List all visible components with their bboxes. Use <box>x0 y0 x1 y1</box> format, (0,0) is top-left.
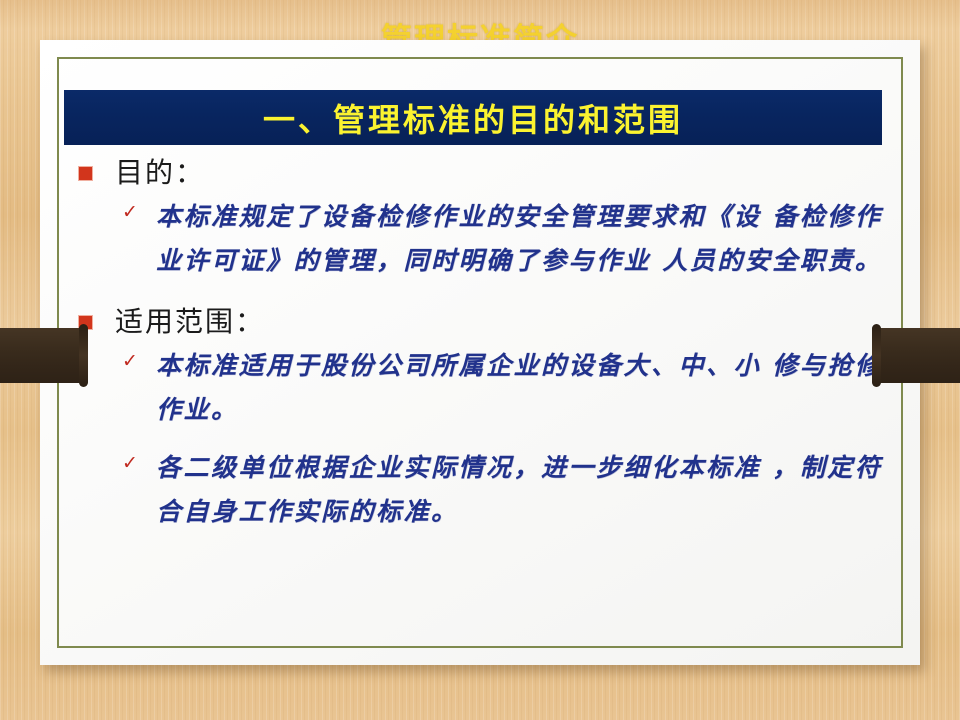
clamp-strap-left-cap <box>79 324 88 387</box>
section-scope-item-1: ✓ 本标准适用于股份公司所属企业的设备大、中、小 修与抢修作业。 <box>64 344 896 432</box>
text-line: 各二级单位根据企业实际情况，进一步细化本标准 <box>156 453 761 482</box>
section-scope-label: 适用范围： <box>115 307 265 338</box>
clamp-strap-right <box>874 328 960 383</box>
text-line: 人员的安全职责。 <box>662 246 882 275</box>
section-scope-header: 适用范围： <box>64 307 896 338</box>
clamp-strap-right-cap <box>872 324 881 387</box>
clamp-strap-left <box>0 328 86 383</box>
slide-body: 目的： ✓ 本标准规定了设备检修作业的安全管理要求和《设 备检修作业许可证》的管… <box>64 158 896 540</box>
section-purpose: 目的： ✓ 本标准规定了设备检修作业的安全管理要求和《设 备检修作业许可证》的管… <box>64 158 896 283</box>
section-purpose-item-1: ✓ 本标准规定了设备检修作业的安全管理要求和《设 备检修作业许可证》的管理，同时… <box>64 195 896 283</box>
slide-stage: 管理标准简介 一、管理标准的目的和范围 目的： ✓ 本标准规定了设备检修作业的安… <box>0 0 960 720</box>
item-spacer <box>64 436 896 446</box>
section-heading-bar: 一、管理标准的目的和范围 <box>64 90 882 145</box>
section-scope-item-1-text: 本标准适用于股份公司所属企业的设备大、中、小 修与抢修作业。 <box>156 344 896 432</box>
section-purpose-item-1-text: 本标准规定了设备检修作业的安全管理要求和《设 备检修作业许可证》的管理，同时明确… <box>156 195 896 283</box>
text-line: 本标准适用于股份公司所属企业的设备大、中、小 <box>156 351 761 380</box>
slide-card: 一、管理标准的目的和范围 目的： ✓ 本标准规定了设备检修作业的安全管理要求和《… <box>40 40 920 665</box>
section-heading-text: 一、管理标准的目的和范围 <box>263 95 683 141</box>
section-purpose-header: 目的： <box>64 158 896 189</box>
section-scope-item-2: ✓ 各二级单位根据企业实际情况，进一步细化本标准 ，制定符合自身工作实际的标准。 <box>64 446 896 534</box>
section-purpose-label: 目的： <box>115 158 205 189</box>
check-bullet-icon: ✓ <box>122 454 142 473</box>
square-bullet-icon <box>78 166 93 181</box>
section-scope-item-2-text: 各二级单位根据企业实际情况，进一步细化本标准 ，制定符合自身工作实际的标准。 <box>156 446 896 534</box>
section-scope: 适用范围： ✓ 本标准适用于股份公司所属企业的设备大、中、小 修与抢修作业。 ✓… <box>64 307 896 534</box>
check-bullet-icon: ✓ <box>122 352 142 371</box>
check-bullet-icon: ✓ <box>122 203 142 222</box>
text-line: 本标准规定了设备检修作业的安全管理要求和《设 <box>156 202 761 231</box>
